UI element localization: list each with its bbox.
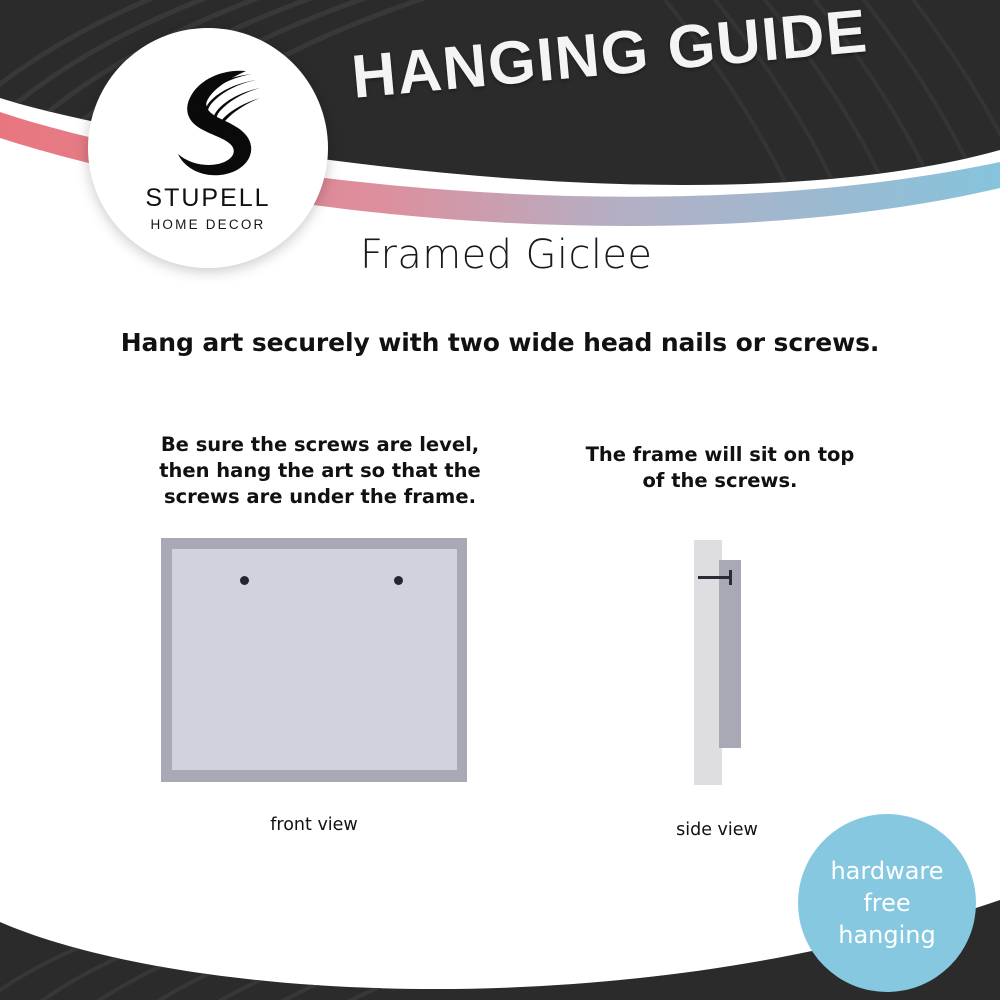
screw-dot-right — [394, 576, 403, 585]
lead-instruction: Hang art securely with two wide head nai… — [0, 328, 1000, 357]
logo-tagline: HOME DECOR — [150, 218, 265, 232]
side-view-caption: The frame will sit on top of the screws. — [570, 442, 870, 494]
side-view-caption-line1: The frame will sit on top — [570, 442, 870, 468]
side-view-label: side view — [612, 820, 822, 840]
front-view-label: front view — [161, 815, 467, 835]
stupell-swirl-s-icon — [154, 62, 262, 180]
logo-wordmark: STUPELL — [145, 186, 270, 211]
front-view-caption: Be sure the screws are level, then hang … — [150, 432, 490, 510]
front-view-caption-line1: Be sure the screws are level, — [150, 432, 490, 458]
badge-line-2: free — [863, 887, 910, 919]
side-view-caption-line2: of the screws. — [570, 468, 870, 494]
brand-logo-badge: STUPELL HOME DECOR — [88, 28, 328, 268]
page-title: HANGING GUIDE — [349, 0, 873, 112]
screw-dot-left — [240, 576, 249, 585]
front-view-caption-line3: screws are under the frame. — [150, 484, 490, 510]
front-view-caption-line2: then hang the art so that the — [150, 458, 490, 484]
nail-icon — [698, 576, 732, 579]
side-view-frame — [719, 560, 741, 748]
badge-line-1: hardware — [830, 855, 943, 887]
nail-head-icon — [729, 570, 732, 585]
hanging-guide-page: STUPELL HOME DECOR HANGING GUIDE Framed … — [0, 0, 1000, 1000]
front-view-frame-diagram — [161, 538, 467, 782]
hardware-free-hanging-badge: hardware free hanging — [798, 814, 976, 992]
badge-line-3: hanging — [838, 919, 935, 951]
product-name: Framed Giclee — [360, 232, 652, 278]
frame-artwork-area — [172, 549, 457, 770]
